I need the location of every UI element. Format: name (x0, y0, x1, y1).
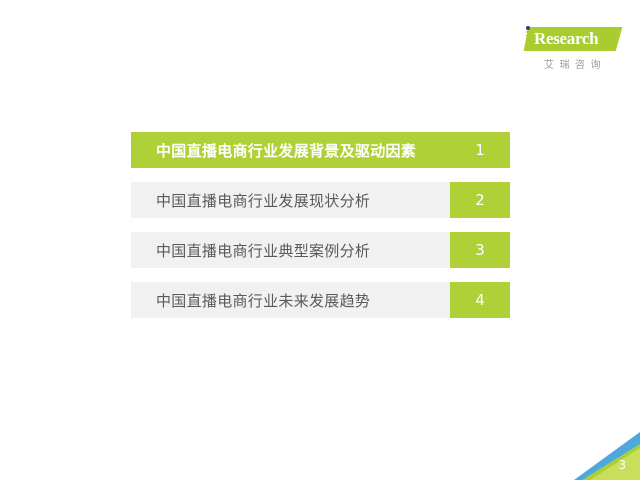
toc-item-label: 中国直播电商行业发展现状分析 (131, 182, 450, 218)
corner-shape-icon (560, 414, 640, 480)
toc-row[interactable]: 中国直播电商行业未来发展趋势 4 (131, 282, 510, 318)
table-of-contents: 中国直播电商行业发展背景及驱动因素 1 中国直播电商行业发展现状分析 2 中国直… (131, 132, 510, 318)
toc-item-number: 2 (450, 182, 510, 218)
corner-decoration (560, 414, 640, 480)
logo-letter-i: i (525, 28, 530, 50)
toc-item-label: 中国直播电商行业发展背景及驱动因素 (131, 132, 450, 168)
toc-item-label: 中国直播电商行业未来发展趋势 (131, 282, 450, 318)
page-number: 3 (618, 458, 626, 472)
toc-row[interactable]: 中国直播电商行业发展现状分析 2 (131, 182, 510, 218)
toc-item-label: 中国直播电商行业典型案例分析 (131, 232, 450, 268)
logo-subtitle: 艾瑞咨询 (528, 56, 622, 71)
toc-item-number: 4 (450, 282, 510, 318)
slide-canvas: i Research 艾瑞咨询 中国直播电商行业发展背景及驱动因素 1 中国直播… (0, 0, 640, 480)
toc-item-number: 3 (450, 232, 510, 268)
logo-wordmark: Research (534, 29, 598, 49)
logo-mark: i Research (512, 26, 624, 52)
toc-item-number: 1 (450, 132, 510, 168)
toc-row[interactable]: 中国直播电商行业典型案例分析 3 (131, 232, 510, 268)
toc-row[interactable]: 中国直播电商行业发展背景及驱动因素 1 (131, 132, 510, 168)
iresearch-logo: i Research 艾瑞咨询 (512, 26, 624, 78)
